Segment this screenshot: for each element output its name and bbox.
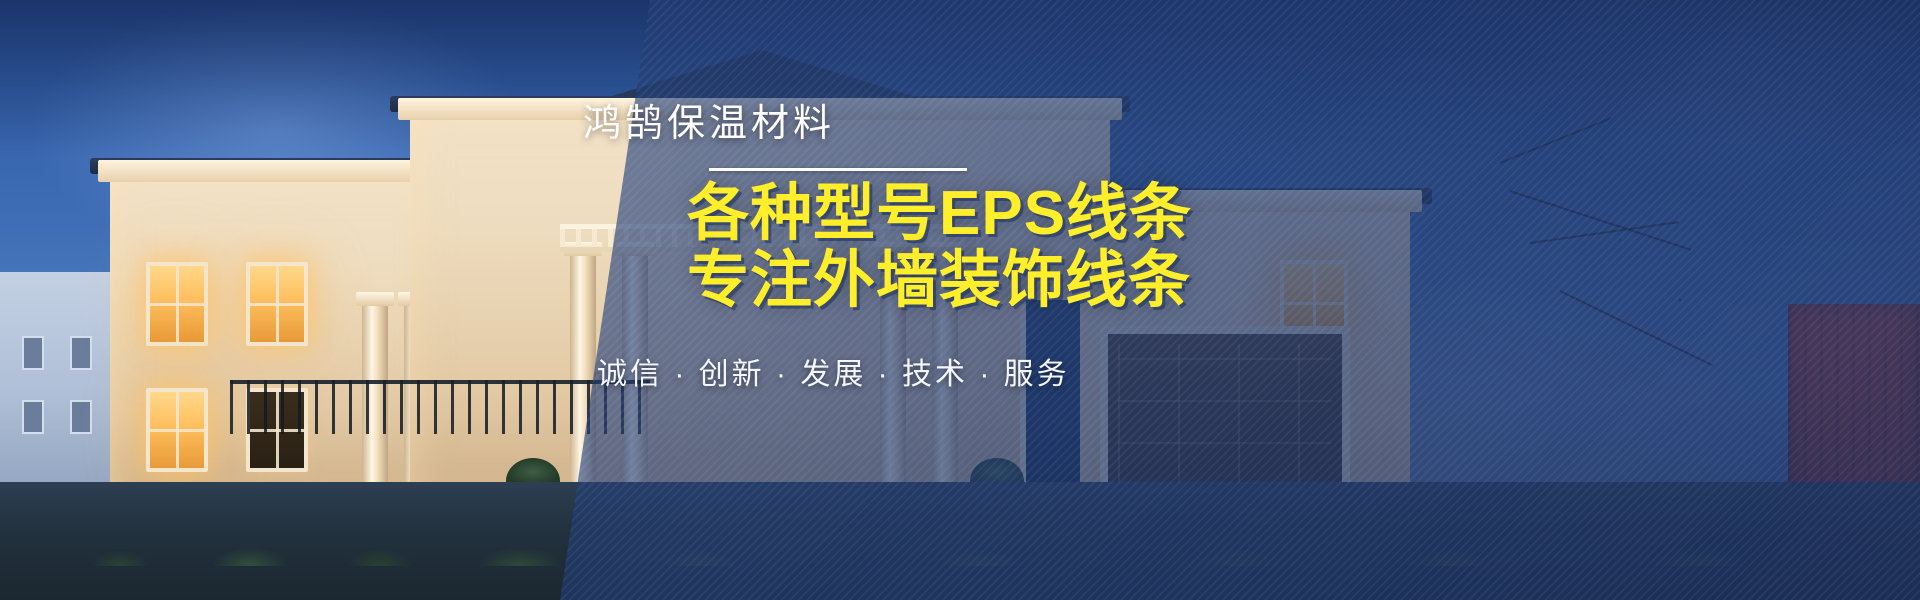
tagline: 诚信 · 创新 · 发展 · 技术 · 服务 <box>583 349 1343 393</box>
window-lit <box>146 388 208 472</box>
cornice <box>98 160 452 182</box>
banner-text-block: 鸿鹄保温材料 各种型号EPS线条 专注外墙装饰线条 诚信 · 创新 · 发展 ·… <box>583 104 1343 393</box>
hero-banner: 鸿鹄保温材料 各种型号EPS线条 专注外墙装饰线条 诚信 · 创新 · 发展 ·… <box>0 0 1920 600</box>
title-divider <box>709 168 967 171</box>
neighbor-window <box>22 400 44 434</box>
headline-line-2: 专注外墙装饰线条 <box>583 248 1343 315</box>
window-lit <box>146 262 208 346</box>
neighbor-window <box>22 336 44 370</box>
headline-line-1: 各种型号EPS线条 <box>583 181 1343 248</box>
window-lit <box>246 262 308 346</box>
brand-name: 鸿鹄保温材料 <box>583 104 1343 146</box>
wing-left <box>110 174 440 504</box>
